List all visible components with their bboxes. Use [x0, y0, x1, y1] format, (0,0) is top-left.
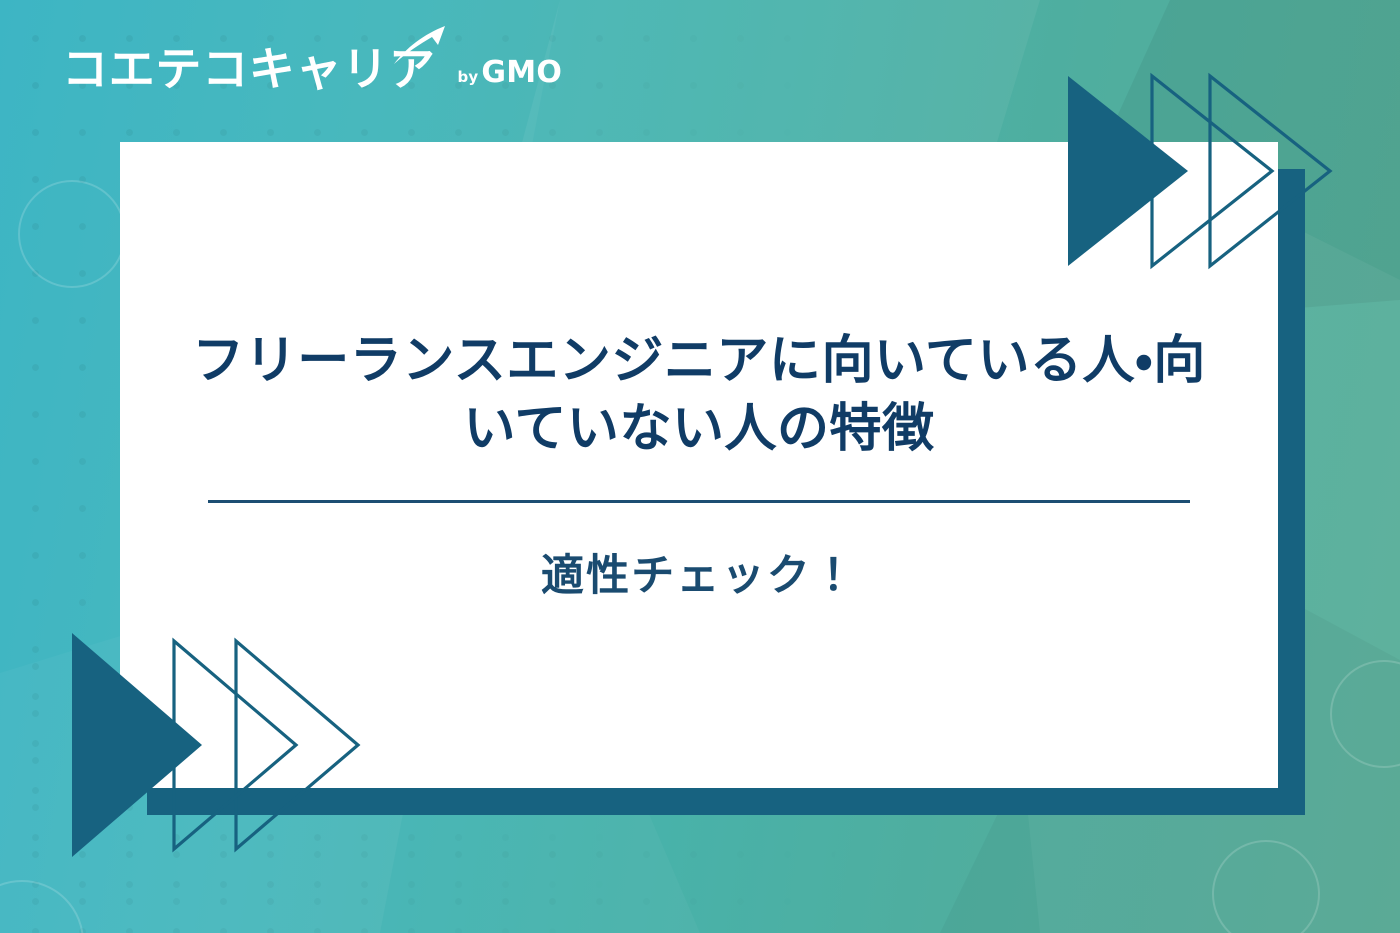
circle-outline-icon: [18, 180, 126, 288]
brand-parent-company: by GMO: [458, 55, 563, 90]
brand-gmo-label: GMO: [481, 55, 562, 90]
brand-logo: コエテコキャリア by GMO: [62, 46, 562, 92]
article-cover: フリーランスエンジニアに向いている人・向いていない人の特徴 適性チェック！ コエ…: [0, 0, 1400, 933]
title-divider: [208, 500, 1190, 503]
page-title: フリーランスエンジニアに向いている人・向いていない人の特徴: [169, 328, 1229, 463]
circle-outline-icon: [0, 880, 84, 933]
content-card: フリーランスエンジニアに向いている人・向いていない人の特徴 適性チェック！: [120, 142, 1278, 788]
brand-logo-label: コエテコキャリア: [62, 42, 436, 96]
arrow-swoosh-icon: [390, 24, 448, 68]
circle-outline-icon: [1212, 840, 1320, 933]
circle-outline-icon: [1330, 660, 1400, 768]
subtitle: 適性チェック！: [541, 541, 857, 603]
brand-logo-text: コエテコキャリア: [62, 46, 436, 92]
brand-by-label: by: [458, 68, 479, 86]
